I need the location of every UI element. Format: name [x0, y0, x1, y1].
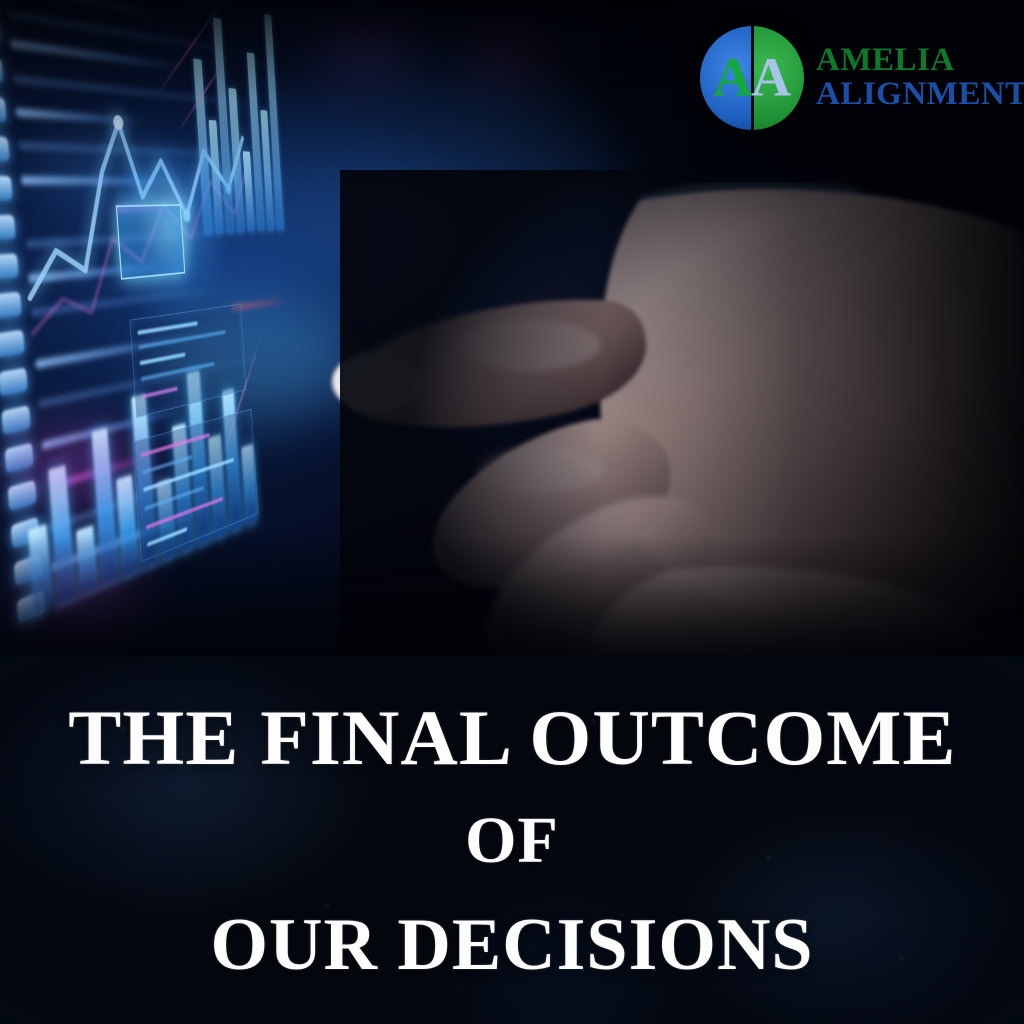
bokeh-blob — [30, 140, 170, 200]
poster-canvas: A A AMELIA ALIGNMENT THE FINAL OUTCOME O… — [0, 0, 1024, 1024]
brand-wordmark: AMELIA ALIGNMENT — [816, 44, 1024, 111]
headline-line-2: OF — [465, 803, 559, 879]
logo-circle-icon: A A — [700, 26, 804, 130]
headline-line-3: OUR DECISIONS — [210, 903, 813, 988]
touch-target-box[interactable] — [116, 204, 186, 280]
bokeh-blob — [20, 560, 140, 620]
brand-logo[interactable]: A A AMELIA ALIGNMENT — [700, 26, 1024, 130]
bokeh-blob — [150, 300, 350, 420]
headline-block: THE FINAL OUTCOME OF OUR DECISIONS — [0, 656, 1024, 1024]
bokeh-blob — [470, 30, 540, 70]
bokeh-blob — [10, 430, 140, 500]
hand-pointing — [340, 170, 1024, 656]
headline-banner: THE FINAL OUTCOME OF OUR DECISIONS — [0, 656, 1024, 1024]
headline-line-1: THE FINAL OUTCOME — [68, 693, 956, 783]
logo-letter-left: A — [713, 49, 753, 104]
brand-name-line-1: AMELIA — [816, 44, 1024, 78]
brand-name-line-2: ALIGNMENT — [816, 78, 1024, 112]
logo-letter-right: A — [751, 49, 791, 104]
bokeh-blob — [320, 20, 410, 70]
